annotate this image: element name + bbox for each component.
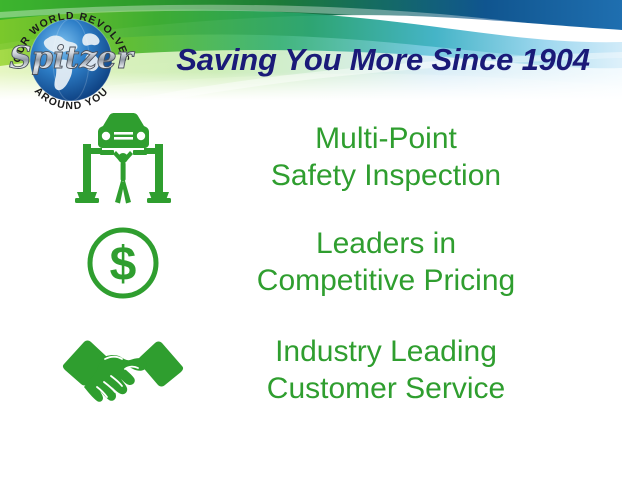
svg-text:$: $ xyxy=(109,238,136,291)
logo-wordmark: Spitzer xyxy=(9,40,135,76)
dollar-circle-icon: $ xyxy=(83,223,163,303)
spitzer-logo: OUR WORLD REVOLVES AROUND YOU Spitzer xyxy=(4,2,139,114)
feature-row-competitive-pricing: $ Leaders in Competitive Pricing xyxy=(0,215,622,310)
promo-slide: OUR WORLD REVOLVES AROUND YOU Spitzer Sa… xyxy=(0,0,622,483)
feature-text-customer-service: Industry Leading Customer Service xyxy=(245,334,622,407)
feature-text-safety-inspection: Multi-Point Safety Inspection xyxy=(245,121,622,194)
feature-line-1: Leaders in xyxy=(245,226,527,263)
dollar-circle-icon-wrap: $ xyxy=(0,223,245,303)
feature-text-competitive-pricing: Leaders in Competitive Pricing xyxy=(245,226,622,299)
logo-graphic: OUR WORLD REVOLVES AROUND YOU Spitzer xyxy=(4,2,139,114)
feature-line-1: Multi-Point xyxy=(245,121,527,158)
feature-row-customer-service: Industry Leading Customer Service xyxy=(0,318,622,423)
feature-row-safety-inspection: Multi-Point Safety Inspection xyxy=(0,108,622,208)
car-lift-icon-wrap xyxy=(0,110,245,206)
handshake-icon-wrap xyxy=(0,330,245,412)
feature-line-2: Competitive Pricing xyxy=(245,263,527,300)
handshake-icon xyxy=(62,330,184,412)
car-lift-icon xyxy=(73,110,173,206)
feature-line-1: Industry Leading xyxy=(245,334,527,371)
svg-text:Spitzer: Spitzer xyxy=(9,40,135,76)
feature-line-2: Safety Inspection xyxy=(245,158,527,195)
page-title: Saving You More Since 1904 xyxy=(150,38,616,82)
feature-line-2: Customer Service xyxy=(245,371,527,408)
